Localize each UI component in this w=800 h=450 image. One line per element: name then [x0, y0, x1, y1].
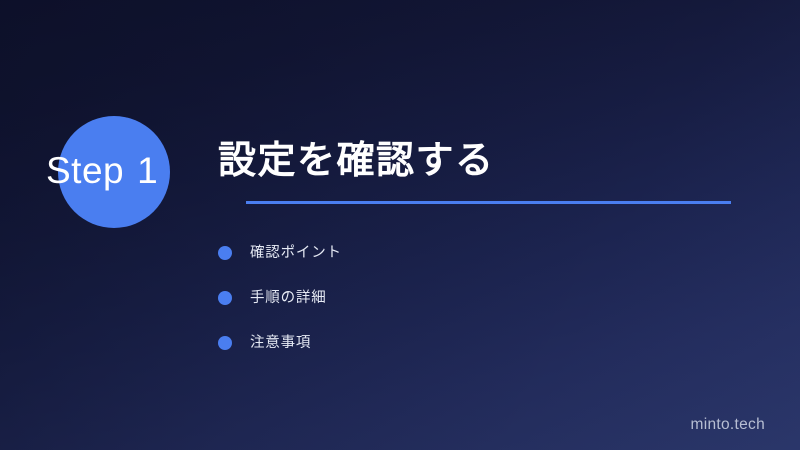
- list-item: 注意事項: [218, 321, 758, 366]
- list-item: 手順の詳細: [218, 276, 758, 321]
- step-badge-word: Step: [46, 150, 124, 191]
- watermark-branding: minto.tech: [690, 417, 765, 433]
- list-item-label: 確認ポイント: [250, 246, 342, 261]
- slide-canvas: Step1 設定を確認する 確認ポイント 手順の詳細 注意事項 minto.te…: [0, 0, 800, 450]
- list-item: 確認ポイント: [218, 231, 758, 276]
- bullet-dot-icon: [218, 336, 232, 350]
- list-item-label: 注意事項: [250, 336, 311, 351]
- step-badge-label: Step1: [46, 152, 158, 189]
- list-item-label: 手順の詳細: [250, 291, 327, 306]
- title-underline-rule: [246, 201, 731, 204]
- bullet-dot-icon: [218, 246, 232, 260]
- bullet-list: 確認ポイント 手順の詳細 注意事項: [218, 231, 758, 366]
- bullet-dot-icon: [218, 291, 232, 305]
- page-title: 設定を確認する: [218, 140, 758, 183]
- slide-content: 設定を確認する 確認ポイント 手順の詳細 注意事項: [218, 140, 758, 366]
- step-badge-number: 1: [137, 150, 158, 191]
